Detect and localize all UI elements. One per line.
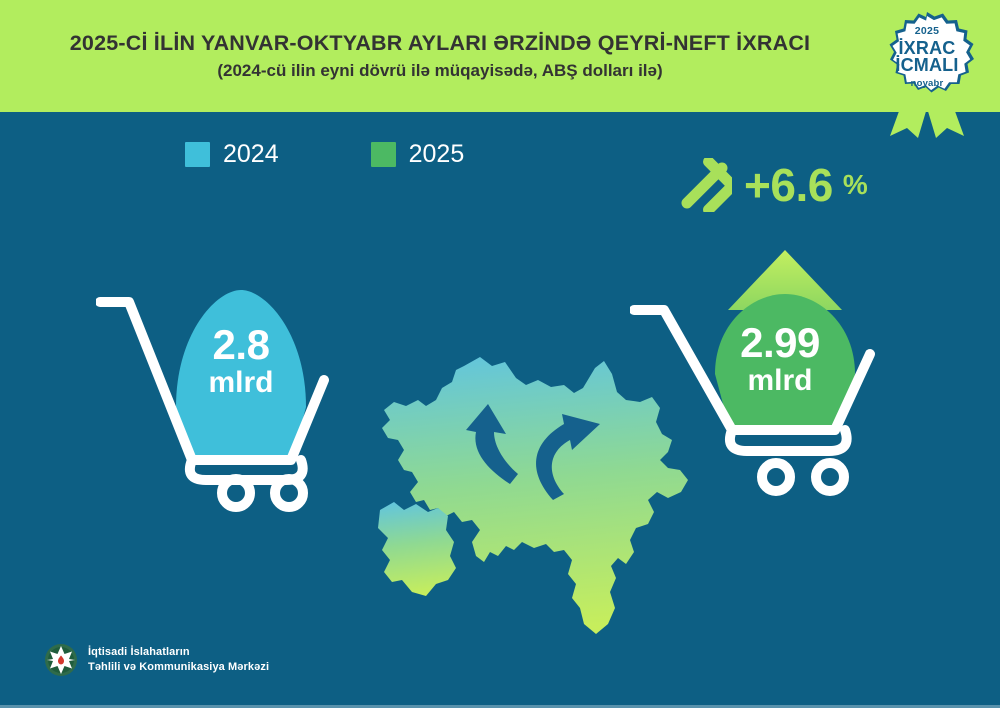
title-block: 2025-Cİ İLİN YANVAR-OKTYABR AYLARI ƏRZİN… [0, 0, 880, 112]
bag-shape-2024 [176, 290, 306, 460]
azerbaijan-emblem-icon [44, 643, 78, 677]
growth-indicator: +6.6 % [678, 158, 868, 212]
legend-item-2024: 2024 [185, 142, 279, 167]
footer-line-2: Təhlili və Kommunikasiya Mərkəzi [88, 660, 269, 675]
page-title: 2025-Cİ İLİN YANVAR-OKTYABR AYLARI ƏRZİN… [70, 31, 810, 56]
infographic-canvas: 2025-Cİ İLİN YANVAR-OKTYABR AYLARI ƏRZİN… [0, 0, 1000, 708]
azerbaijan-map [368, 352, 708, 642]
export-review-badge: 2025 İXRAC İCMALI noyabr [866, 6, 988, 138]
legend-label-2025: 2025 [409, 142, 465, 167]
header-band: 2025-Cİ İLİN YANVAR-OKTYABR AYLARI ƏRZİN… [0, 0, 1000, 112]
legend-swatch-2025 [371, 142, 396, 167]
arrow-up-right-icon [678, 158, 732, 212]
bag-shape-2025 [715, 294, 855, 430]
legend-swatch-2024 [185, 142, 210, 167]
badge-rosette-icon [866, 6, 988, 138]
footer-org-name: İqtisadi İslahatların Təhlili və Kommuni… [88, 645, 269, 674]
growth-value: +6.6 [744, 162, 833, 208]
legend-item-2025: 2025 [371, 142, 465, 167]
legend: 2024 2025 [185, 142, 464, 167]
page-subtitle: (2024-cü ilin eyni dövrü ilə müqayisədə,… [217, 61, 662, 81]
cart-2024: 2.8 mlrd [96, 272, 386, 512]
growth-percent-sign: % [843, 171, 868, 199]
footer-line-1: İqtisadi İslahatların [88, 645, 269, 660]
legend-label-2024: 2024 [223, 142, 279, 167]
footer-logo: İqtisadi İslahatların Təhlili və Kommuni… [44, 643, 269, 677]
map-mainland [378, 357, 688, 634]
shopping-cart-2024-icon [96, 272, 386, 512]
